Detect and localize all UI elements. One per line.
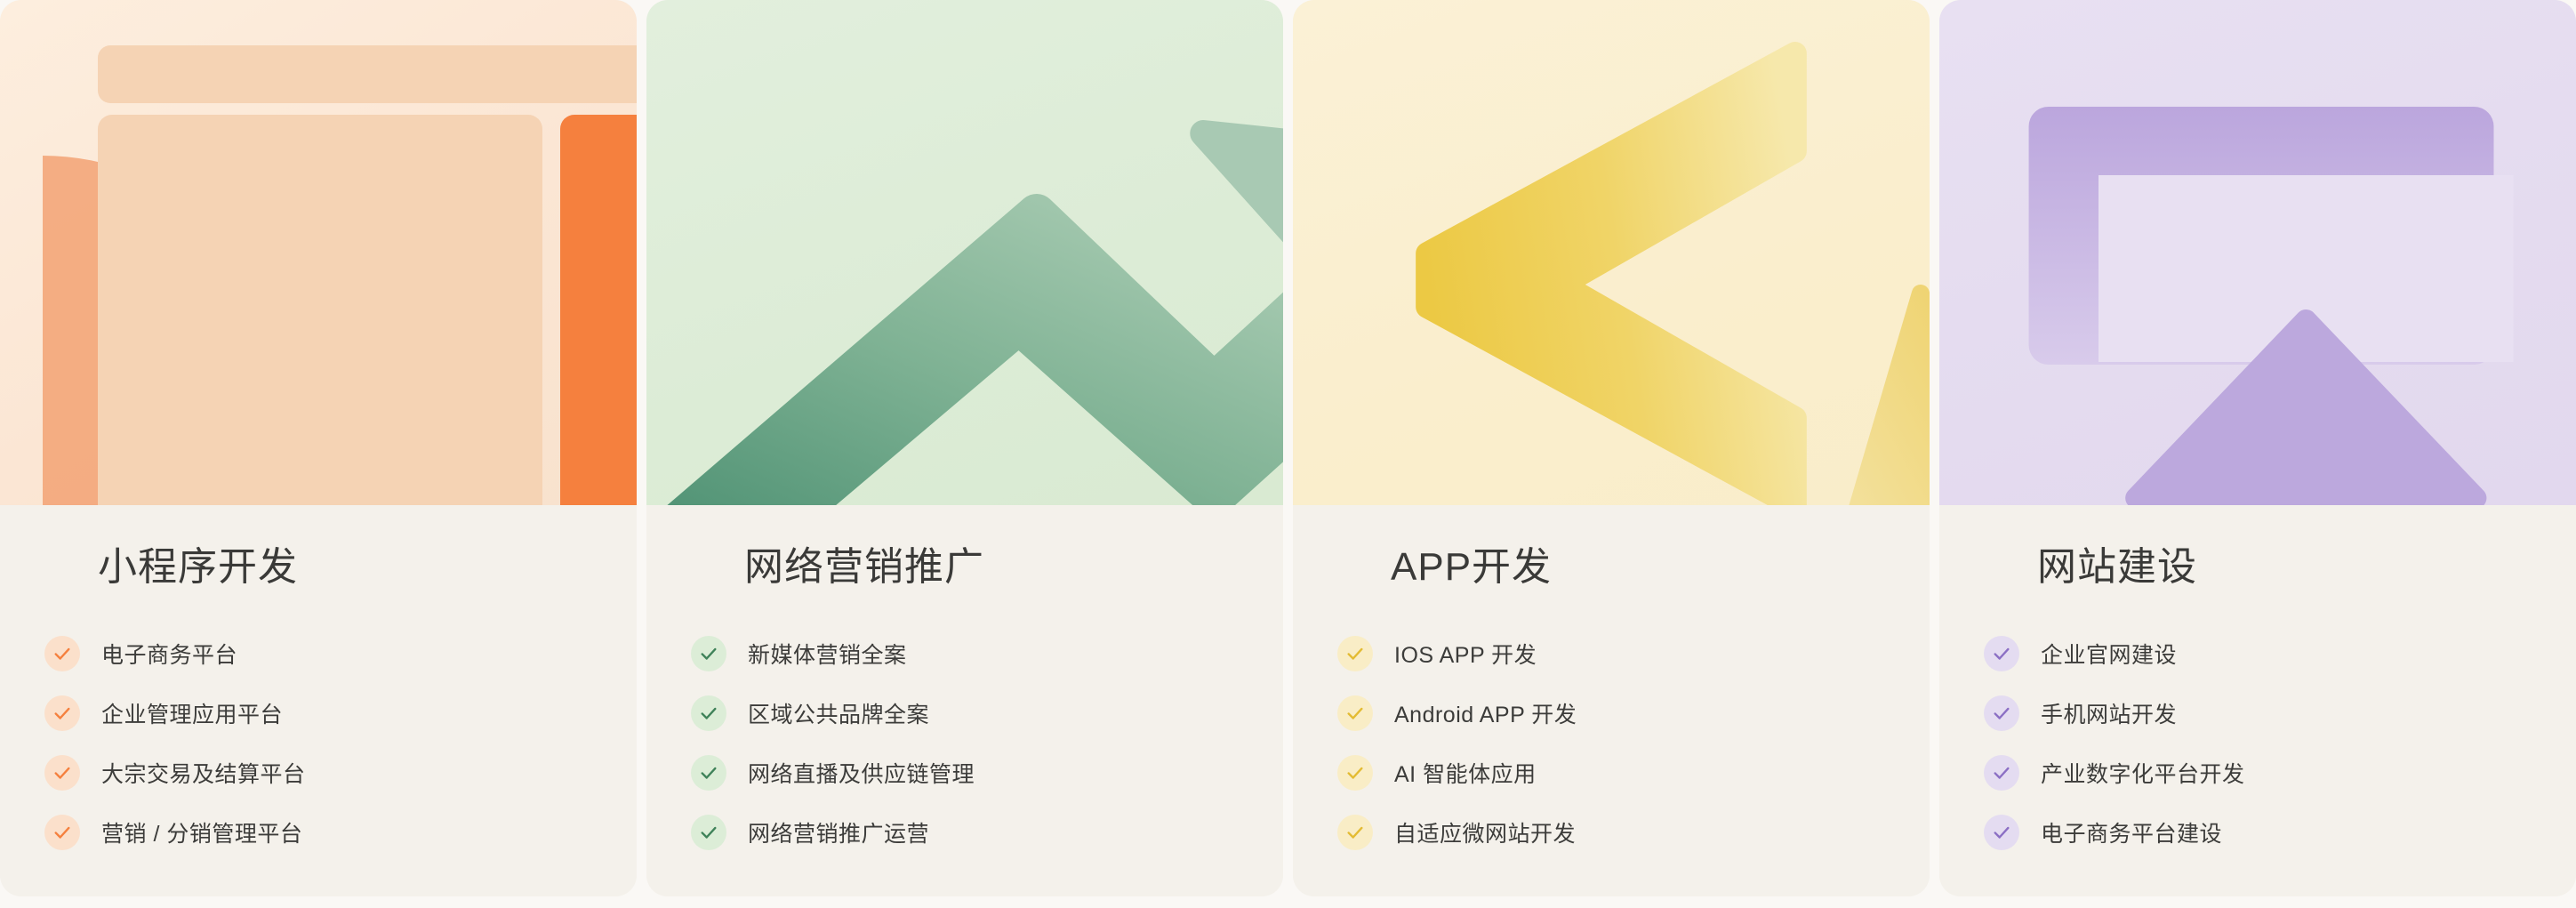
list-item-label: AI 智能体应用 — [1394, 757, 1537, 789]
list-item[interactable]: 电子商务平台建设 — [1984, 815, 2245, 850]
list-item[interactable]: 网络直播及供应链管理 — [691, 755, 975, 791]
card-body: 网站建设 企业官网建设 手机网站开发 — [1939, 505, 2576, 896]
card-body: 网络营销推广 新媒体营销全案 区域公共品牌全案 — [646, 505, 1283, 896]
service-list: IOS APP 开发 Android APP 开发 AI 智能体应用 — [1337, 636, 1577, 874]
list-item-label: 电子商务平台建设 — [2041, 816, 2222, 848]
list-item[interactable]: 新媒体营销全案 — [691, 636, 975, 671]
service-card-website-construction[interactable]: 网站建设 企业官网建设 手机网站开发 — [1939, 0, 2576, 896]
service-list: 电子商务平台 企业管理应用平台 大宗交易及结算平台 — [44, 636, 306, 874]
list-item-label: 企业管理应用平台 — [101, 697, 283, 729]
large-panel-shape — [98, 115, 542, 505]
trending-up-arrow-illustration — [646, 0, 1283, 505]
list-item-label: 电子商务平台 — [101, 638, 237, 670]
monitor-screen-illustration — [1939, 0, 2576, 505]
list-item[interactable]: 网络营销推广运营 — [691, 815, 975, 850]
check-icon — [1337, 815, 1373, 850]
list-item[interactable]: 企业官网建设 — [1984, 636, 2245, 671]
check-icon — [44, 636, 80, 671]
card-body: APP开发 IOS APP 开发 Android APP 开发 — [1293, 505, 1930, 896]
list-item-label: 大宗交易及结算平台 — [101, 757, 306, 789]
chevron-left-icon — [1293, 0, 1930, 505]
accent-column-shape — [560, 115, 637, 505]
page-title: 网络营销推广 — [744, 548, 984, 587]
dashboard-blocks-illustration — [0, 0, 637, 505]
trend-arrow-icon — [646, 0, 1283, 505]
service-card-app-development[interactable]: APP开发 IOS APP 开发 Android APP 开发 — [1293, 0, 1930, 896]
list-item-label: IOS APP 开发 — [1394, 638, 1537, 670]
service-card-grid: 小程序开发 电子商务平台 企业管理应用平台 — [0, 0, 2576, 908]
check-icon — [44, 695, 80, 731]
list-item[interactable]: 自适应微网站开发 — [1337, 815, 1577, 850]
list-item-label: 企业官网建设 — [2041, 638, 2177, 670]
list-item[interactable]: Android APP 开发 — [1337, 695, 1577, 731]
list-item-label: 区域公共品牌全案 — [748, 697, 929, 729]
service-list: 新媒体营销全案 区域公共品牌全案 网络直播及供应链管理 — [691, 636, 975, 874]
list-item[interactable]: 企业管理应用平台 — [44, 695, 306, 731]
check-icon — [691, 755, 726, 791]
list-item-label: 产业数字化平台开发 — [2041, 757, 2245, 789]
list-item[interactable]: 区域公共品牌全案 — [691, 695, 975, 731]
list-item[interactable]: 营销 / 分销管理平台 — [44, 815, 306, 850]
check-icon — [1984, 755, 2019, 791]
list-item[interactable]: AI 智能体应用 — [1337, 755, 1577, 791]
check-icon — [691, 815, 726, 850]
service-card-mini-program[interactable]: 小程序开发 电子商务平台 企业管理应用平台 — [0, 0, 637, 896]
check-icon — [1984, 695, 2019, 731]
top-bar-shape — [98, 45, 637, 103]
list-item[interactable]: 电子商务平台 — [44, 636, 306, 671]
list-item[interactable]: 大宗交易及结算平台 — [44, 755, 306, 791]
check-icon — [1984, 636, 2019, 671]
check-icon — [44, 755, 80, 791]
list-item-label: 自适应微网站开发 — [1394, 816, 1576, 848]
list-item-label: 手机网站开发 — [2041, 697, 2177, 729]
service-card-network-marketing[interactable]: 网络营销推广 新媒体营销全案 区域公共品牌全案 — [646, 0, 1283, 896]
chevron-left-illustration — [1293, 0, 1930, 505]
page-title: 网站建设 — [2037, 548, 2197, 587]
page-title: 小程序开发 — [98, 548, 298, 587]
list-item-label: 网络营销推广运营 — [748, 816, 929, 848]
list-item-label: 网络直播及供应链管理 — [748, 757, 975, 789]
check-icon — [1984, 815, 2019, 850]
list-item[interactable]: IOS APP 开发 — [1337, 636, 1577, 671]
check-icon — [691, 636, 726, 671]
service-list: 企业官网建设 手机网站开发 产业数字化平台开发 — [1984, 636, 2245, 874]
check-icon — [691, 695, 726, 731]
card-body: 小程序开发 电子商务平台 企业管理应用平台 — [0, 505, 637, 896]
list-item-label: Android APP 开发 — [1394, 697, 1577, 729]
page-title: APP开发 — [1391, 548, 1552, 587]
check-icon — [44, 815, 80, 850]
list-item-label: 新媒体营销全案 — [748, 638, 907, 670]
check-icon — [1337, 636, 1373, 671]
check-icon — [1337, 695, 1373, 731]
list-item[interactable]: 手机网站开发 — [1984, 695, 2245, 731]
check-icon — [1337, 755, 1373, 791]
monitor-icon — [1939, 0, 2576, 505]
list-item-label: 营销 / 分销管理平台 — [101, 816, 302, 848]
list-item[interactable]: 产业数字化平台开发 — [1984, 755, 2245, 791]
